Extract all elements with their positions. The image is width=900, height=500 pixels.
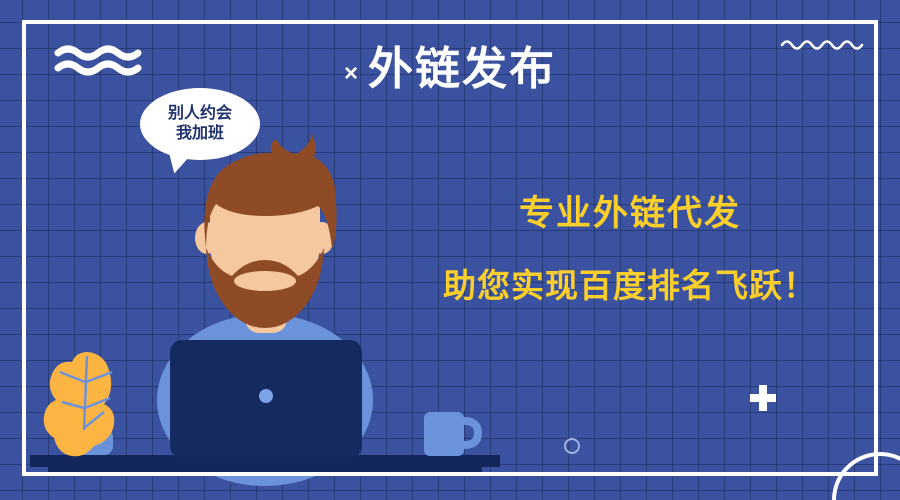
page-title: ×外链发布 <box>0 46 900 91</box>
circle-outline-icon <box>564 438 580 454</box>
banner-canvas: ×外链发布 专业外链代发 助您实现百度排名飞跃！ 别人约会 我加班 <box>0 0 900 500</box>
plus-icon <box>750 385 776 411</box>
laptop-logo <box>259 389 273 403</box>
speech-bubble-line-1: 别人约会 <box>168 104 232 124</box>
speech-bubble-line-2: 我加班 <box>176 124 224 144</box>
coffee-mug-handle <box>464 421 478 445</box>
speech-bubble: 别人约会 我加班 <box>140 88 260 160</box>
marketing-line-2: 助您实现百度排名飞跃！ <box>400 269 860 302</box>
desk-shadow <box>48 467 482 476</box>
mouth-shape <box>234 271 296 291</box>
marketing-copy: 专业外链代发 助您实现百度排名飞跃！ <box>400 196 860 302</box>
title-text: 外链发布 <box>368 43 556 94</box>
plant-leaf <box>44 352 115 456</box>
marketing-line-1: 专业外链代发 <box>400 196 860 231</box>
coffee-mug-body <box>424 412 464 456</box>
title-x-mark: × <box>344 60 360 87</box>
